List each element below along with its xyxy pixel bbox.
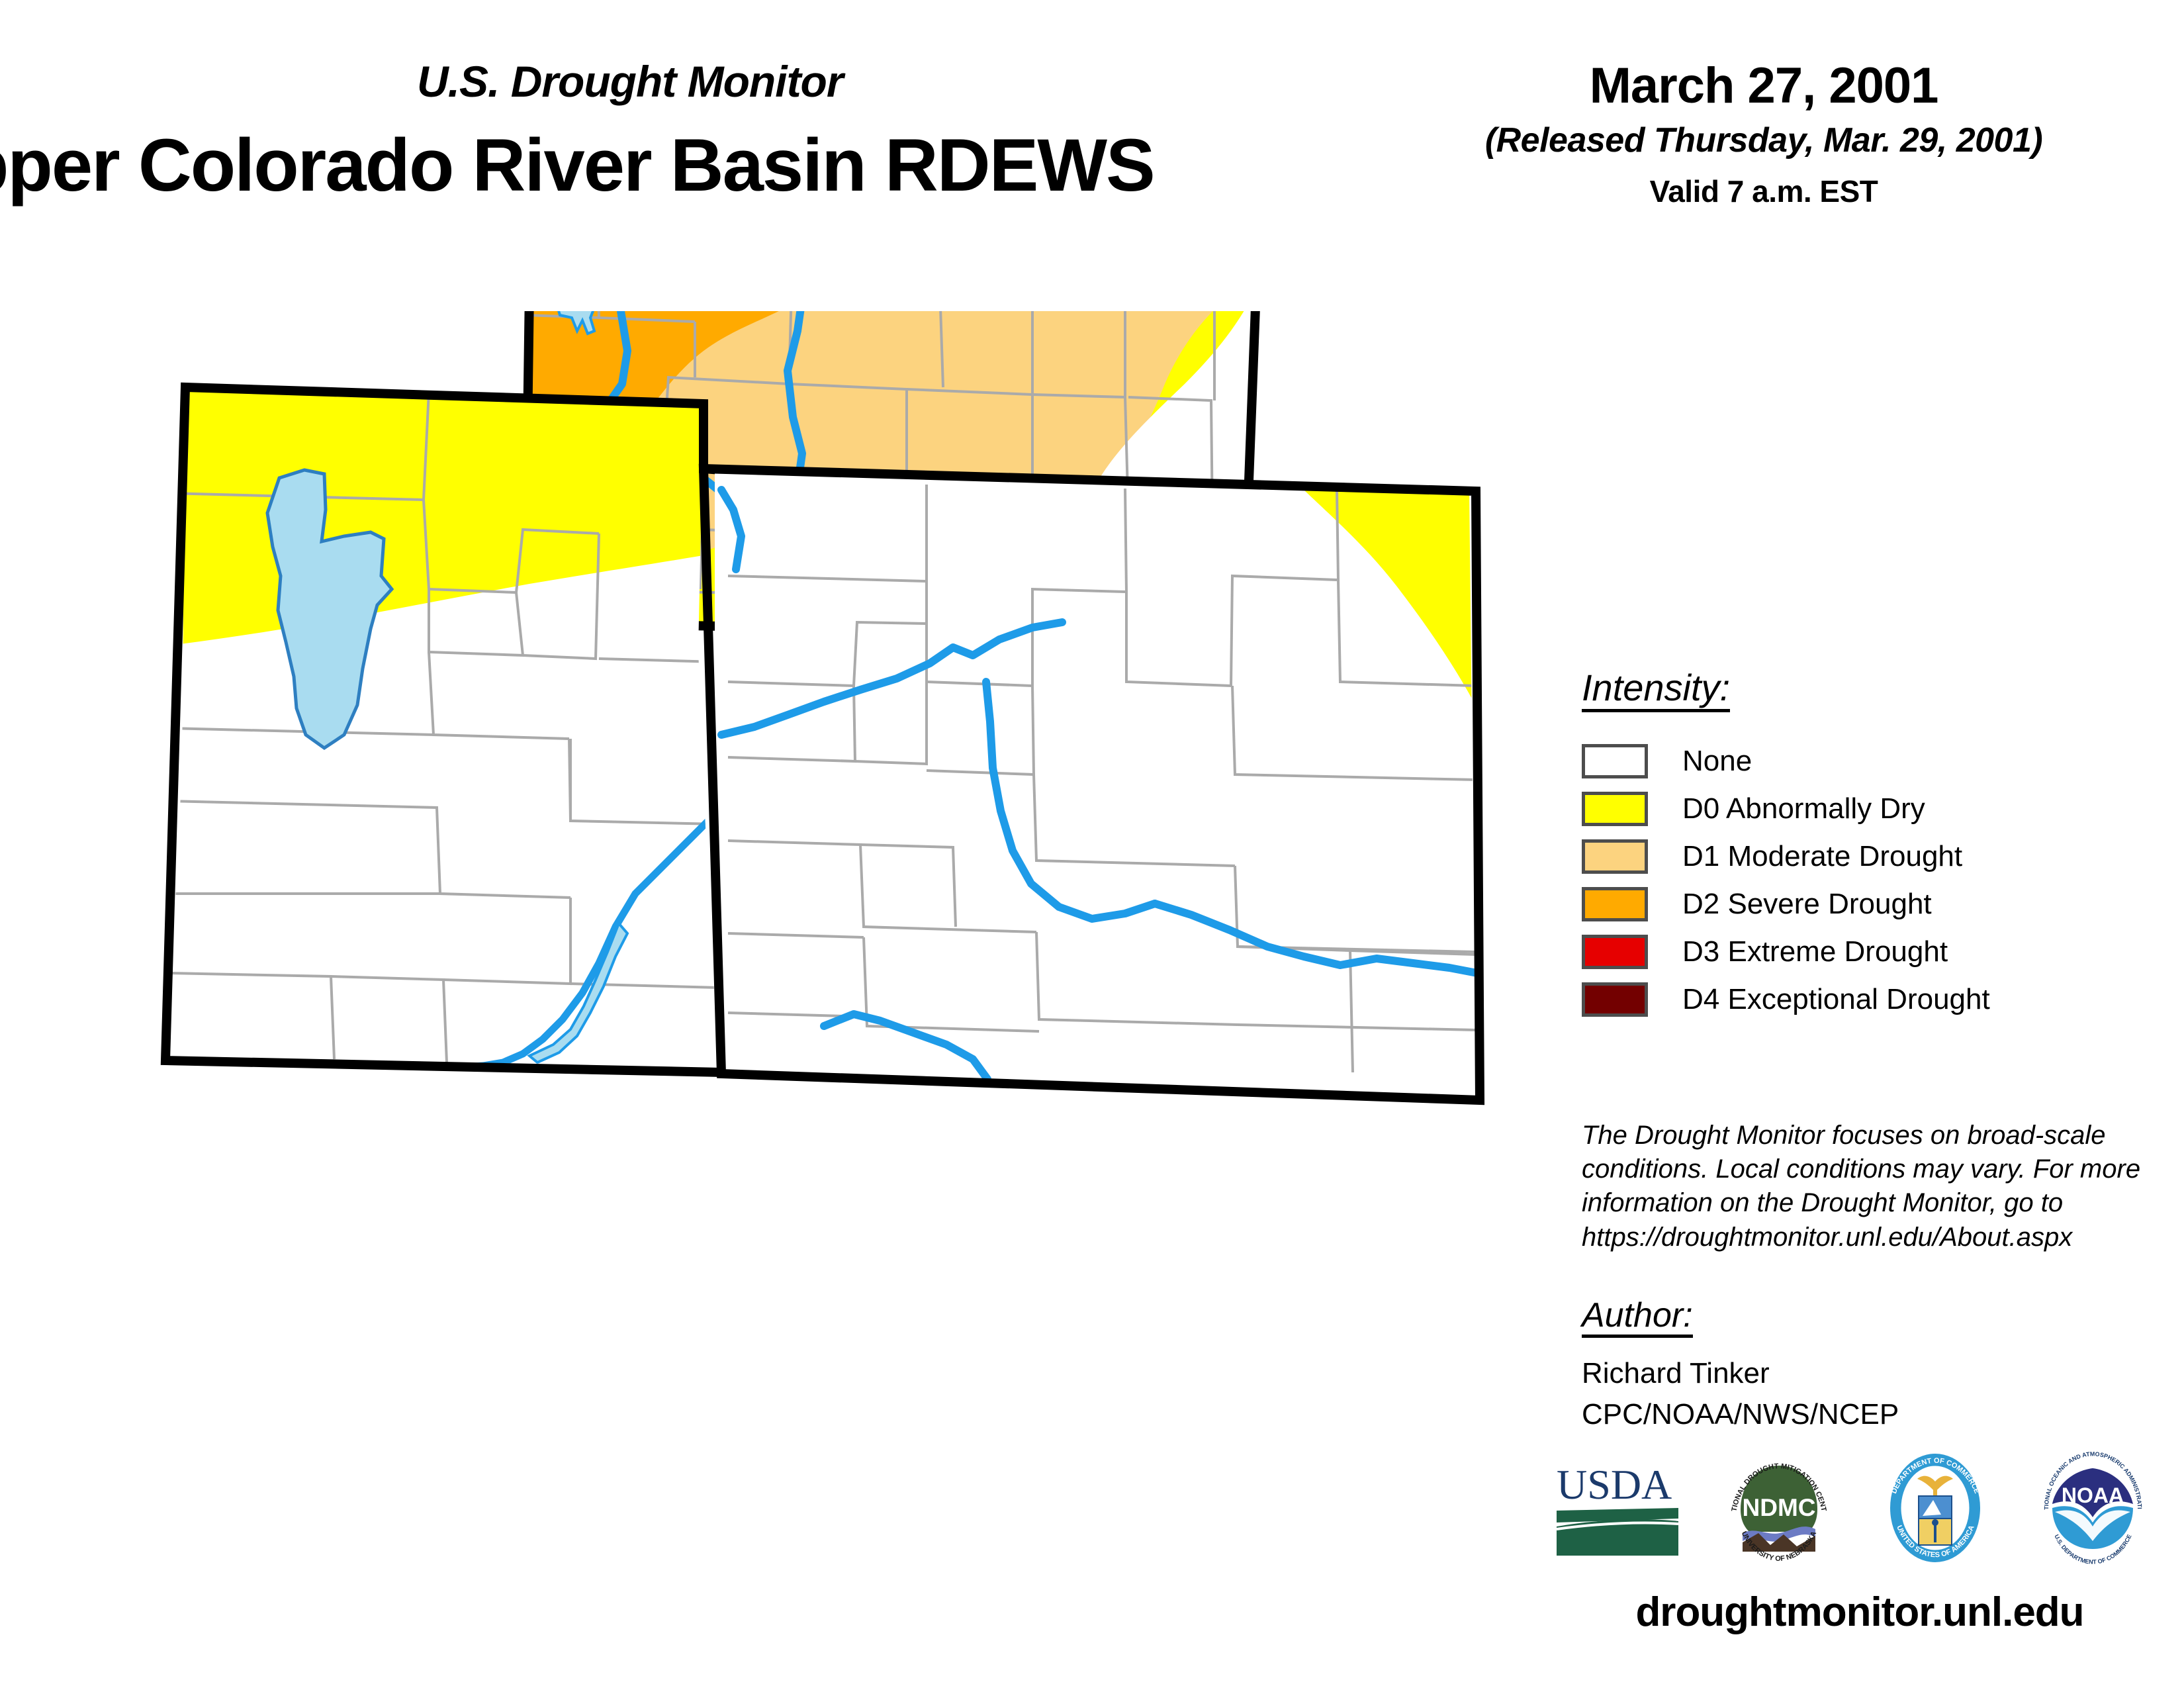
legend-label-d4: D4 Exceptional Drought	[1682, 985, 1990, 1014]
department-of-commerce-seal[interactable]: DEPARTMENT OF COMMERCE UNITED STATES OF …	[1878, 1448, 1993, 1571]
legend-item-d4[interactable]: D4 Exceptional Drought	[1582, 976, 2138, 1023]
author-heading: Author:	[1582, 1297, 1693, 1338]
drought-map[interactable]	[0, 311, 1522, 1609]
legend-swatch-none	[1582, 744, 1648, 778]
program-title: U.S. Drought Monitor	[417, 56, 843, 107]
released-date: (Released Thursday, Mar. 29, 2001)	[1482, 120, 2045, 160]
author-name: Richard Tinker	[1582, 1355, 2138, 1392]
noaa-logo-text: NOAA	[2062, 1483, 2124, 1507]
page-header: U.S. Drought Monitor pper Colorado River…	[0, 0, 2184, 265]
legend-label-d3: D3 Extreme Drought	[1682, 937, 1948, 966]
noaa-logo[interactable]: NOAA NATIONAL OCEANIC AND ATMOSPHERIC AD…	[2035, 1448, 2151, 1571]
colorado-fill	[715, 463, 1489, 1105]
legend-item-d3[interactable]: D3 Extreme Drought	[1582, 928, 2138, 976]
legend-swatch-d0	[1582, 792, 1648, 826]
author-panel: Author: Richard Tinker CPC/NOAA/NWS/NCEP	[1582, 1297, 2138, 1433]
legend-swatch-d3	[1582, 935, 1648, 969]
legend-label-none: None	[1682, 747, 1752, 776]
legend-panel: Intensity: None D0 Abnormally Dry D1 Mod…	[1582, 669, 2138, 1023]
legend-list: None D0 Abnormally Dry D1 Moderate Droug…	[1582, 737, 2138, 1023]
state-utah[interactable]	[159, 377, 745, 1079]
legend-item-d1[interactable]: D1 Moderate Drought	[1582, 833, 2138, 880]
date-block: March 27, 2001 (Released Thursday, Mar. …	[1482, 60, 2045, 209]
legend-swatch-d4	[1582, 982, 1648, 1017]
legend-item-d0[interactable]: D0 Abnormally Dry	[1582, 785, 2138, 833]
co-none-area	[715, 463, 1489, 1105]
legend-swatch-d1	[1582, 839, 1648, 874]
legend-label-d1: D1 Moderate Drought	[1682, 842, 1962, 871]
ndmc-logo[interactable]: NDMC NATIONAL DROUGHT MITIGATION CENTER …	[1723, 1448, 1835, 1571]
disclaimer-text: The Drought Monitor focuses on broad-sca…	[1582, 1119, 2164, 1254]
legend-heading: Intensity:	[1582, 669, 1730, 712]
valid-time: Valid 7 a.m. EST	[1482, 173, 2045, 209]
state-colorado[interactable]	[704, 463, 1489, 1105]
legend-swatch-d2	[1582, 887, 1648, 921]
legend-item-none[interactable]: None	[1582, 737, 2138, 785]
usda-logo-text: USDA	[1557, 1461, 1672, 1508]
valid-date: March 27, 2001	[1482, 60, 2045, 113]
author-affiliation: CPC/NOAA/NWS/NCEP	[1582, 1396, 2138, 1433]
legend-label-d2: D2 Severe Drought	[1682, 890, 1932, 919]
ndmc-logo-text: NDMC	[1743, 1494, 1816, 1521]
usda-logo[interactable]: USDA	[1555, 1455, 1681, 1564]
legend-label-d0: D0 Abnormally Dry	[1682, 794, 1925, 823]
partner-logos: USDA NDMC NATIONAL DROUGHT MITIGATION CE…	[1555, 1443, 2151, 1575]
utah-fill	[159, 377, 745, 1079]
site-url[interactable]: droughtmonitor.unl.edu	[1555, 1589, 2164, 1636]
page-title: pper Colorado River Basin RDEWS	[0, 122, 1154, 208]
map-svg[interactable]	[0, 311, 1522, 1609]
legend-item-d2[interactable]: D2 Severe Drought	[1582, 880, 2138, 928]
